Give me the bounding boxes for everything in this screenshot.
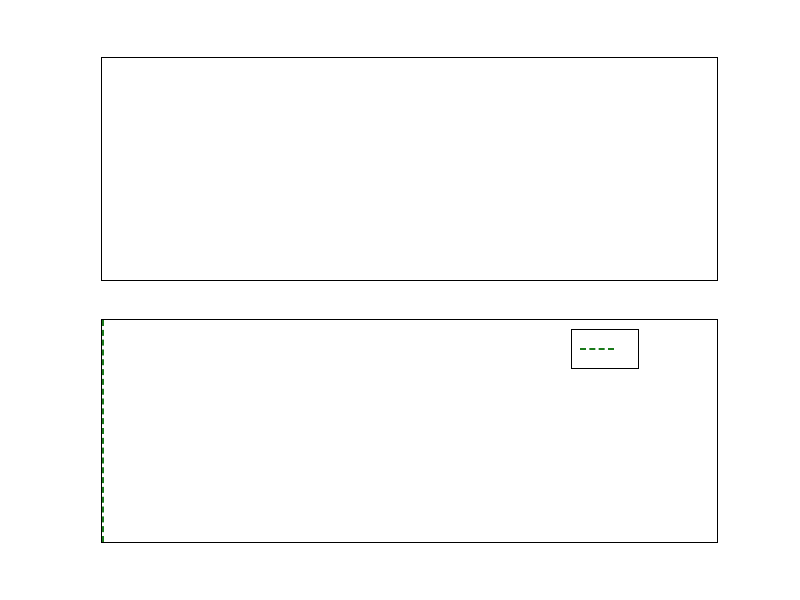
legend[interactable] [571,329,639,369]
figure-canvas [0,0,800,600]
histogram-bars [102,58,717,280]
mag-limit-vline [102,320,104,542]
mag-limit-legend-swatch-icon [580,348,614,350]
top-panel-axes [101,57,718,281]
